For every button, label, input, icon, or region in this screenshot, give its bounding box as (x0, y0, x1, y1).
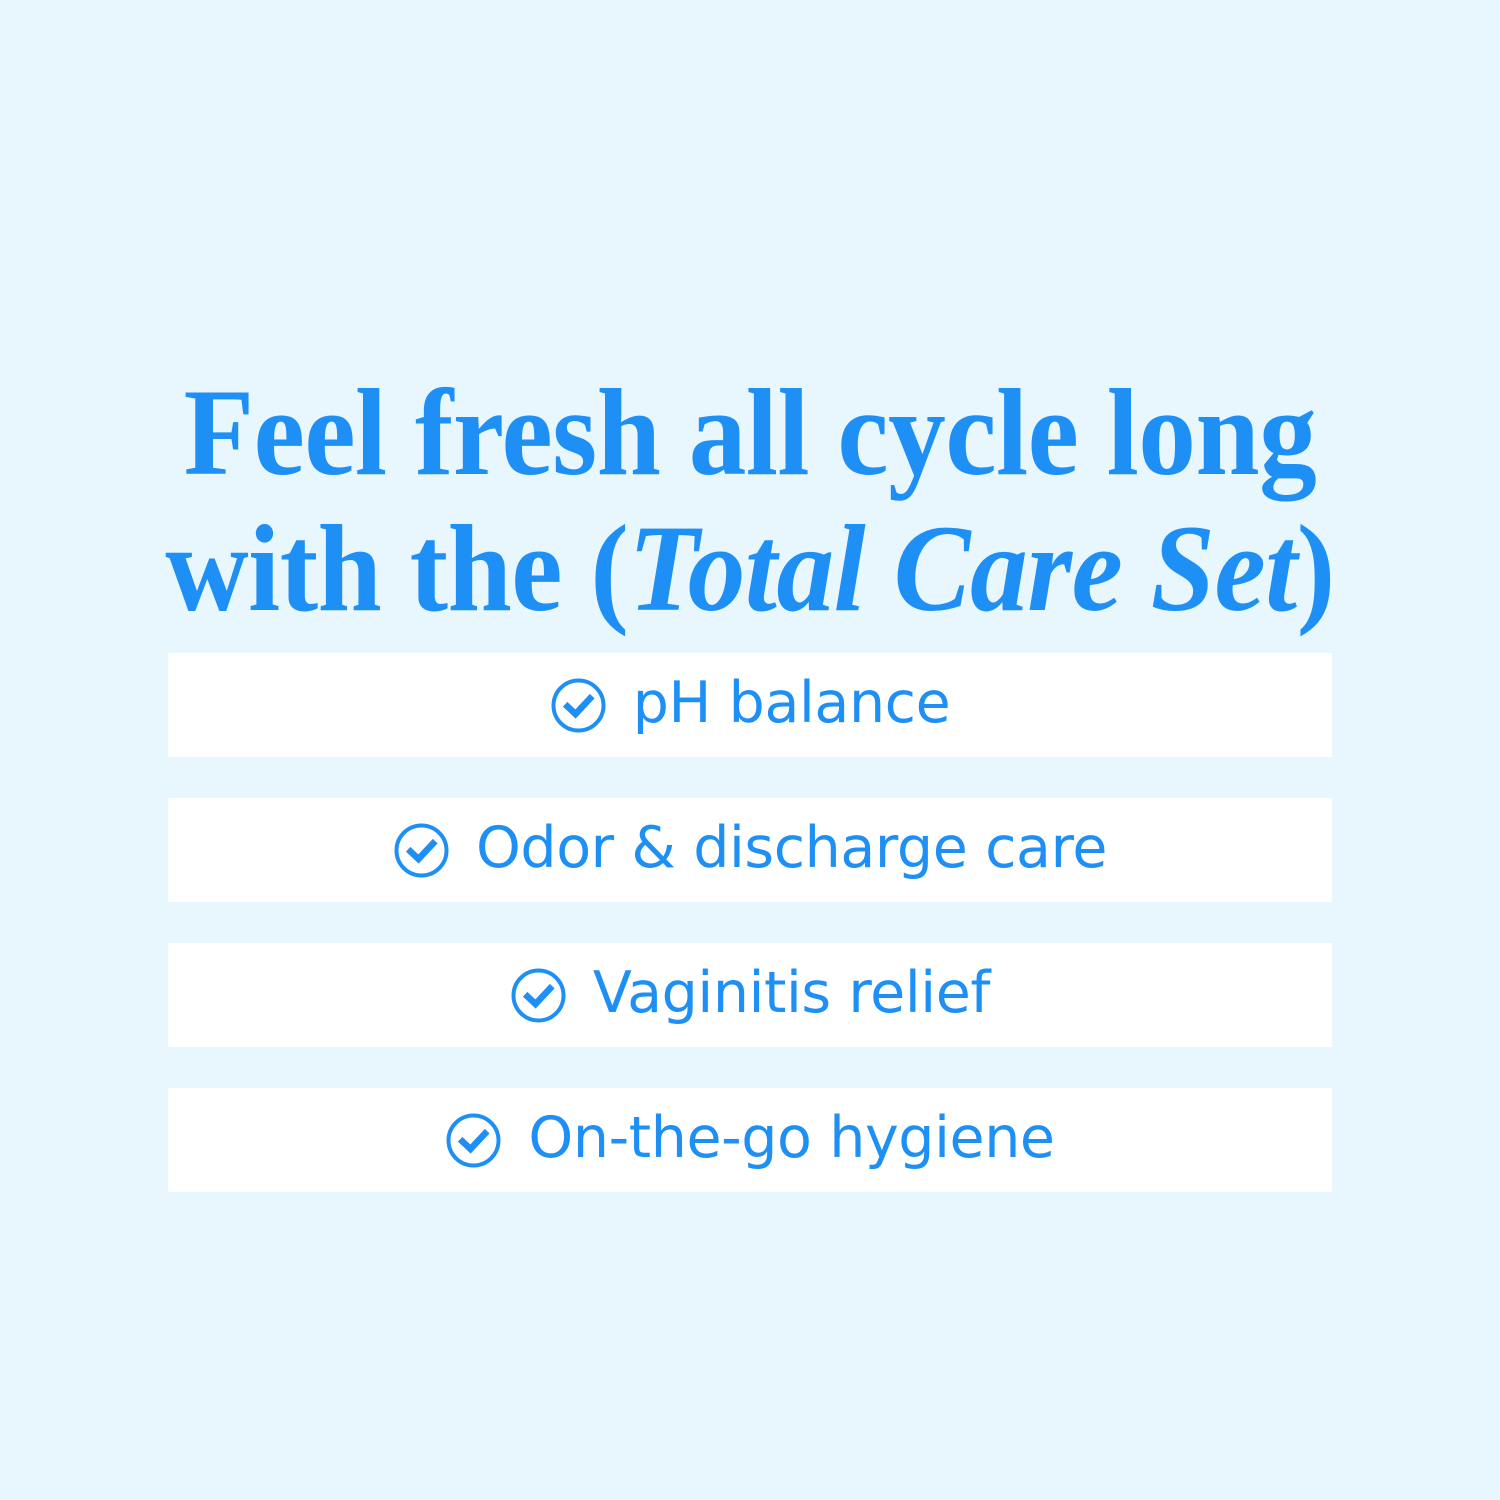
promo-poster: Feel fresh all cycle long with the (Tota… (0, 0, 1500, 1500)
headline-line-1: Feel fresh all cycle long (53, 365, 1448, 501)
feature-row-vaginitis-relief: Vaginitis relief (168, 943, 1332, 1047)
close-paren: ) (1297, 500, 1335, 637)
brand-name: Total Care Set (628, 500, 1296, 637)
headline-line-2-prefix: with the (165, 500, 590, 637)
check-circle-icon (510, 967, 567, 1024)
feature-row-ph-balance: pH balance (168, 653, 1332, 757)
feature-list: pH balance Odor & discharge care Vaginit… (168, 653, 1332, 1192)
open-paren: ( (590, 500, 628, 637)
feature-label: On-the-go hygiene (528, 1110, 1054, 1167)
feature-label: pH balance (633, 675, 951, 732)
check-circle-icon (550, 677, 607, 734)
headline-line-2: with the (Total Care Set) (53, 501, 1448, 637)
feature-row-on-the-go-hygiene: On-the-go hygiene (168, 1088, 1332, 1192)
feature-label: Vaginitis relief (593, 965, 990, 1022)
feature-label: Odor & discharge care (476, 820, 1107, 877)
check-circle-icon (445, 1112, 502, 1169)
page-title: Feel fresh all cycle long with the (Tota… (53, 365, 1448, 637)
check-circle-icon (393, 822, 450, 879)
feature-row-odor-discharge-care: Odor & discharge care (168, 798, 1332, 902)
